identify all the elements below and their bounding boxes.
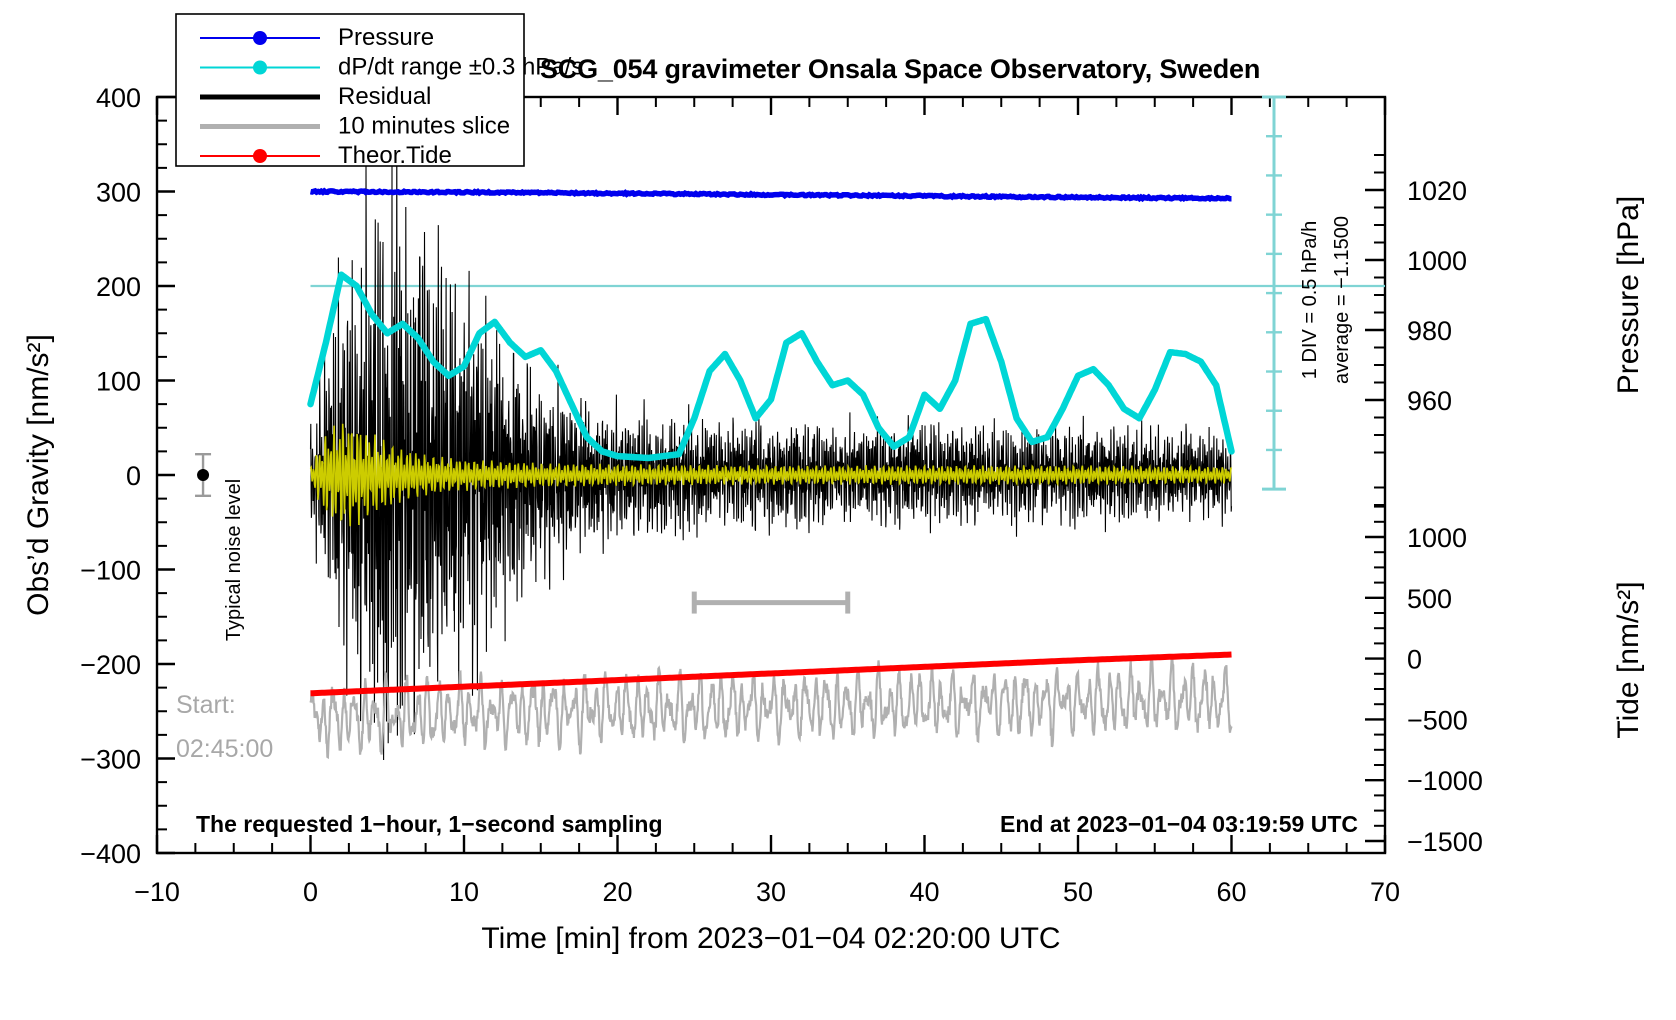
pressure-tick-label: 1020 [1407,176,1467,206]
x-tick-label: 70 [1370,877,1400,907]
tide-tick-label: 0 [1407,645,1422,675]
gravimeter-plot: 4003002001000−100−200−300−400 −100102030… [0,0,1676,1020]
tide-tick-label: −1000 [1407,766,1483,796]
x-tick-label: 20 [602,877,632,907]
y-tick-label: −300 [80,745,141,775]
x-tick-label: 50 [1063,877,1093,907]
tide-tick-label: 1000 [1407,523,1467,553]
y-tick-label: −100 [80,556,141,586]
legend-marker [253,149,267,163]
legend-label: 10 minutes slice [338,113,510,140]
y-tick-label: −400 [80,839,141,869]
legend-label: dP/dt range ±0.3 hPa/s [338,54,583,81]
y-tick-label: 300 [96,178,141,208]
y-axis-label: Obs’d Gravity [nm/s²] [22,334,55,616]
start-label-line1: Start: [176,691,236,719]
legend-label: Theor.Tide [338,142,452,169]
tide-tick-label: 500 [1407,584,1452,614]
pressure-tick-label: 960 [1407,386,1452,416]
x-tick-label: −10 [134,877,180,907]
y-tick-label: 0 [126,461,141,491]
x-tick-label: 0 [303,877,318,907]
typical-noise-level-label: Typical noise level [223,479,245,641]
end-time-note: End at 2023−01−04 03:19:59 UTC [1000,811,1358,837]
start-label-line2: 02:45:00 [176,735,273,763]
y-tick-label: 400 [96,83,141,113]
x-tick-label: 60 [1216,877,1246,907]
page-title: SCG_054 gravimeter Onsala Space Observat… [540,54,1260,84]
noise-point [197,469,209,481]
legend-label: Pressure [338,24,434,51]
chart-legend[interactable]: PressuredP/dt range ±0.3 hPa/sResidual10… [176,14,583,169]
y-tick-label: 100 [96,367,141,397]
x-tick-label: 30 [756,877,786,907]
legend-marker [253,31,267,45]
pressure-tick-label: 1000 [1407,246,1467,276]
legend-marker [253,61,267,75]
chart-canvas: 4003002001000−100−200−300−400 −100102030… [0,0,1676,1020]
x-tick-label: 40 [909,877,939,907]
pressure-axis-label: Pressure [hPa] [1612,196,1645,394]
y-tick-label: 200 [96,272,141,302]
legend-label: Residual [338,83,431,110]
div-scale-annotation: 1 DIV = 0.5 hPa/h [1299,221,1321,379]
tide-tick-label: −500 [1407,705,1468,735]
x-axis-label: Time [min] from 2023−01−04 02:20:00 UTC [481,922,1060,955]
tide-axis-label: Tide [nm/s²] [1612,581,1645,738]
x-tick-label: 10 [449,877,479,907]
average-annotation: average = −1.1500 [1331,216,1353,384]
sampling-note: The requested 1−hour, 1−second sampling [196,811,663,837]
pressure-tick-label: 980 [1407,316,1452,346]
y-tick-label: −200 [80,650,141,680]
tide-tick-label: −1500 [1407,827,1483,857]
